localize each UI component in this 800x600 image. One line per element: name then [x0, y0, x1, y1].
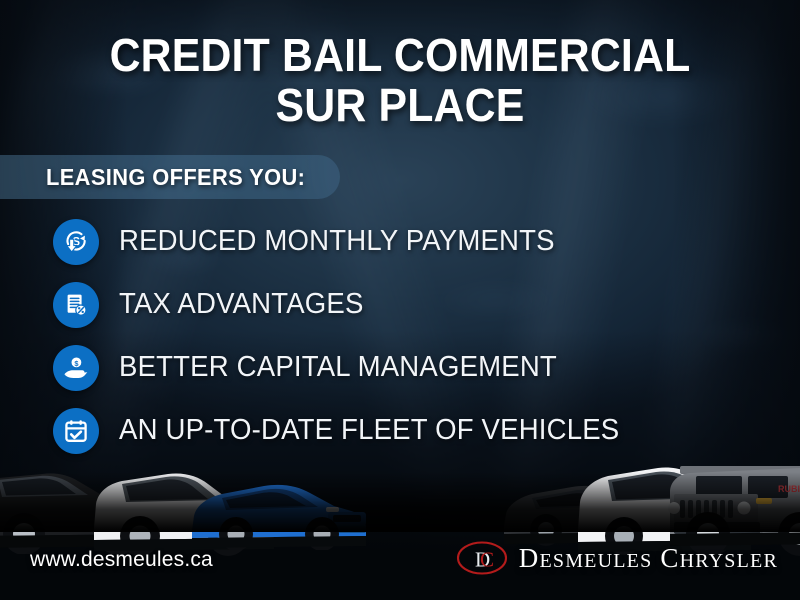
vehicle-ground-shadow [0, 472, 800, 532]
logo-name-second-rest: HRYSLER [680, 550, 778, 572]
promo-banner: CREDIT BAIL COMMERCIAL SUR PLACE LEASING… [0, 0, 800, 600]
headline-line-2: SUR PLACE [28, 80, 772, 130]
logo-name-first-rest: ESMEULES [539, 550, 652, 572]
dealer-logo[interactable]: D C DESMEULES CHRYSLER [455, 540, 778, 576]
benefit-label: BETTER CAPITAL MANAGEMENT [119, 351, 557, 384]
headline-line-1: CREDIT BAIL COMMERCIAL [28, 30, 772, 80]
svg-text:$: $ [74, 359, 78, 368]
subheading-label: LEASING OFFERS YOU: [46, 164, 305, 191]
money-down-arrow-icon: S [53, 219, 99, 265]
benefit-label: TAX ADVANTAGES [119, 288, 364, 321]
benefit-item: S REDUCED MONTHLY PAYMENTS [53, 210, 753, 273]
logo-name-first-initial: D [519, 543, 540, 573]
headline: CREDIT BAIL COMMERCIAL SUR PLACE [28, 30, 772, 130]
benefit-item: TAX ADVANTAGES [53, 273, 753, 336]
dc-monogram-icon: D C [455, 540, 509, 576]
logo-name-second-initial: C [660, 543, 679, 573]
subheading-band: LEASING OFFERS YOU: [0, 155, 340, 199]
website-url[interactable]: www.desmeules.ca [30, 548, 213, 572]
benefit-label: REDUCED MONTHLY PAYMENTS [119, 225, 555, 258]
svg-text:C: C [480, 548, 494, 572]
tax-document-percent-icon [53, 282, 99, 328]
benefits-list: S REDUCED MONTHLY PAYMENTS [53, 210, 753, 462]
dealer-logo-text: DESMEULES CHRYSLER [519, 543, 778, 574]
hand-holding-coin-icon: $ [53, 345, 99, 391]
benefit-item: $ BETTER CAPITAL MANAGEMENT [53, 336, 753, 399]
